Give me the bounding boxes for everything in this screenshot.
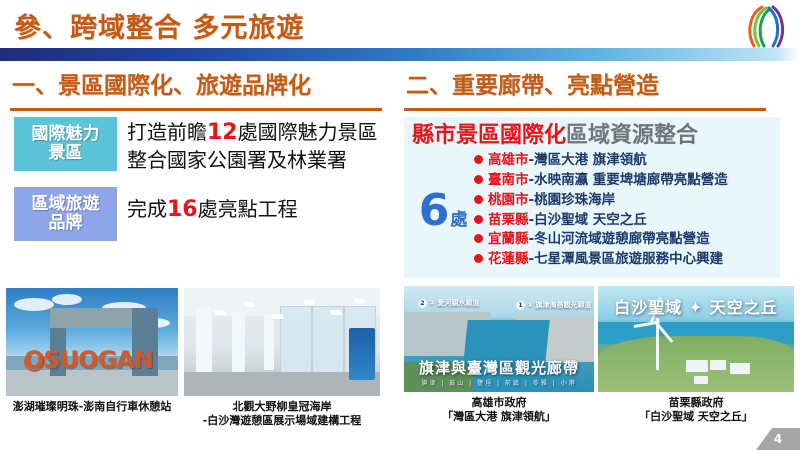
harbour-label-1: 1① 旗津海島觀光廊道 bbox=[516, 300, 591, 310]
bullet-dot-icon bbox=[474, 234, 483, 243]
photo-baisha-sky-hill: 白沙聖域 ✦ 天空之丘 bbox=[598, 286, 794, 392]
title-divider-bar bbox=[0, 48, 800, 61]
left-photo-1-wrap: OSUOGAN 澎湖璀璨明珠-澎南自行車休憩站 bbox=[6, 288, 178, 428]
harbour-banner-text: 旗津與臺灣區觀光廊帶 bbox=[404, 357, 594, 378]
right-column: 二、重要廊帶、亮點營造 縣市景區國際化區域資源整合 6 處 高雄市 -灣區大港 … bbox=[402, 66, 796, 278]
list-item: 桃園市 -桃園珍珠海岸 bbox=[474, 191, 772, 211]
left-heading-rule bbox=[10, 108, 382, 111]
info-display-screen bbox=[349, 328, 375, 380]
sky-hill-overlay-title: 白沙聖域 ✦ 天空之丘 bbox=[598, 294, 794, 318]
row1-text-line2: 整合國家公園署及林業署 bbox=[127, 147, 378, 173]
list-item: 高雄市 -灣區大港 旗津領航 bbox=[474, 151, 772, 171]
city-name: 臺南市 bbox=[488, 171, 529, 191]
bullet-dot-icon bbox=[474, 215, 483, 224]
left-row-1-text: 打造前瞻12處國際魅力景區 整合國家公園署及林業署 bbox=[127, 117, 378, 173]
panel-body: 6 處 高雄市 -灣區大港 旗津領航 臺南市 -水映南瀛 重要埤塘廊帶亮點營造 bbox=[412, 151, 772, 269]
caption-line-1: 北觀大野柳皇冠海岸 bbox=[184, 400, 380, 414]
bullet-dot-icon bbox=[474, 175, 483, 184]
left-photo-1-caption: 澎湖璀璨明珠-澎南自行車休憩站 bbox=[6, 400, 178, 414]
tag-line-2: 品牌 bbox=[49, 214, 83, 233]
tag-international-scenic: 國際魅力 景區 bbox=[14, 117, 117, 171]
tag-line-1: 國際魅力 bbox=[32, 125, 100, 144]
city-name: 宜蘭縣 bbox=[488, 230, 529, 250]
page-number-badge: 4 bbox=[756, 428, 800, 450]
list-item: 花蓮縣 -七星潭風景區旅遊服務中心興建 bbox=[474, 250, 772, 270]
bullet-dot-icon bbox=[474, 195, 483, 204]
caption-line-1: 苗栗縣政府 bbox=[598, 396, 794, 410]
row1-text-after: 處國際魅力景區 bbox=[238, 120, 378, 144]
left-row-2-text: 完成16處亮點工程 bbox=[127, 187, 298, 224]
tag-line-1: 區域旅遊 bbox=[32, 195, 100, 214]
caption-line-2: 「灣區大港 旗津領航」 bbox=[404, 410, 594, 424]
bullet-dot-icon bbox=[474, 155, 483, 164]
slide-root: 參、跨域整合 多元旅遊 一、景區國際化、旅遊品牌化 國際魅力 景區 打造前瞻12… bbox=[0, 0, 800, 450]
city-desc: -水映南瀛 重要埤塘廊帶亮點營造 bbox=[529, 171, 728, 191]
list-item: 臺南市 -水映南瀛 重要埤塘廊帶亮點營造 bbox=[474, 171, 772, 191]
caption-line-2: 「白沙聖域 天空之丘」 bbox=[598, 410, 794, 424]
left-section-heading: 一、景區國際化、旅遊品牌化 bbox=[12, 66, 396, 100]
harbour-subline-text: 旗津 | 鼓山 | 鹽埕 | 前鎮 | 苓雅 | 小港 bbox=[404, 378, 594, 387]
left-photo-strip: OSUOGAN 澎湖璀璨明珠-澎南自行車休憩站 bbox=[6, 288, 380, 428]
row1-number: 12 bbox=[207, 120, 238, 145]
photo-kaohsiung-harbour: 2② 愛河親水廊道 1① 旗津海島觀光廊道 旗津與臺灣區觀光廊帶 旗津 | 鼓山… bbox=[404, 286, 594, 392]
count-number: 6 bbox=[419, 190, 450, 232]
city-name: 桃園市 bbox=[488, 191, 529, 211]
panel-title-gray: 區域資源整合 bbox=[566, 123, 698, 148]
row2-text-after: 處亮點工程 bbox=[198, 197, 298, 221]
caption-line-2: -白沙灣遊憩區展示場域建構工程 bbox=[184, 414, 380, 428]
count-badge: 6 處 bbox=[412, 190, 474, 232]
list-item: 宜蘭縣 -冬山河流域遊憩廊帶亮點營造 bbox=[474, 230, 772, 250]
taiwan-tourism-logo bbox=[740, 2, 794, 50]
left-row-2: 區域旅遊 品牌 完成16處亮點工程 bbox=[14, 187, 396, 241]
list-item: 苗栗縣 -白沙聖域 天空之丘 bbox=[474, 211, 772, 231]
bullet-dot-icon bbox=[474, 254, 483, 263]
left-photo-2-wrap: 北觀大野柳皇冠海岸 -白沙灣遊憩區展示場域建構工程 bbox=[184, 288, 380, 428]
photo-penghu-arch: OSUOGAN bbox=[6, 288, 178, 396]
caption-line-1: 高雄市政府 bbox=[404, 396, 594, 410]
photo-overlay-word: OSUOGAN bbox=[24, 346, 153, 374]
tag-regional-brand: 區域旅遊 品牌 bbox=[14, 187, 117, 241]
city-desc: -七星潭風景區旅遊服務中心興建 bbox=[529, 250, 724, 270]
city-name: 花蓮縣 bbox=[488, 250, 529, 270]
right-photo-1-caption: 高雄市政府 「灣區大港 旗津領航」 bbox=[404, 396, 594, 424]
right-photo-1-wrap: 2② 愛河親水廊道 1① 旗津海島觀光廊道 旗津與臺灣區觀光廊帶 旗津 | 鼓山… bbox=[404, 286, 594, 424]
row1-text-before: 打造前瞻 bbox=[127, 120, 207, 144]
left-row-1: 國際魅力 景區 打造前瞻12處國際魅力景區 整合國家公園署及林業署 bbox=[14, 117, 396, 173]
right-photo-2-caption: 苗栗縣政府 「白沙聖域 天空之丘」 bbox=[598, 396, 794, 424]
row2-number: 16 bbox=[167, 197, 198, 222]
left-photo-2-caption: 北觀大野柳皇冠海岸 -白沙灣遊憩區展示場域建構工程 bbox=[184, 400, 380, 428]
right-photo-strip: 2② 愛河親水廊道 1① 旗津海島觀光廊道 旗津與臺灣區觀光廊帶 旗津 | 鼓山… bbox=[404, 286, 794, 424]
page-title: 參、跨域整合 多元旅遊 bbox=[14, 6, 304, 45]
harbour-label-2: 2② 愛河親水廊道 bbox=[418, 298, 479, 308]
city-desc: -桃園珍珠海岸 bbox=[529, 191, 616, 211]
left-column: 一、景區國際化、旅遊品牌化 國際魅力 景區 打造前瞻12處國際魅力景區 整合國家… bbox=[8, 66, 396, 241]
city-desc: -冬山河流域遊憩廊帶亮點營造 bbox=[529, 230, 710, 250]
city-name: 苗栗縣 bbox=[488, 211, 529, 231]
right-section-heading: 二、重要廊帶、亮點營造 bbox=[406, 66, 796, 100]
right-heading-rule bbox=[404, 108, 766, 111]
panel-title-red: 縣市景區國際化 bbox=[412, 123, 566, 148]
city-desc: -灣區大港 旗津領航 bbox=[529, 151, 647, 171]
right-photo-2-wrap: 白沙聖域 ✦ 天空之丘 苗栗縣政府 「白沙聖域 天空之丘」 bbox=[598, 286, 794, 424]
city-desc: -白沙聖域 天空之丘 bbox=[529, 211, 647, 231]
resource-integration-panel: 縣市景區國際化區域資源整合 6 處 高雄市 -灣區大港 旗津領航 臺南市 bbox=[404, 117, 780, 278]
panel-title: 縣市景區國際化區域資源整合 bbox=[412, 123, 772, 149]
row2-text-before: 完成 bbox=[127, 197, 167, 221]
count-unit: 處 bbox=[450, 205, 467, 230]
photo-baishawan-hall bbox=[184, 288, 380, 396]
city-name: 高雄市 bbox=[488, 151, 529, 171]
county-list: 高雄市 -灣區大港 旗津領航 臺南市 -水映南瀛 重要埤塘廊帶亮點營造 桃園市 … bbox=[474, 151, 772, 269]
tag-line-2: 景區 bbox=[49, 144, 83, 163]
